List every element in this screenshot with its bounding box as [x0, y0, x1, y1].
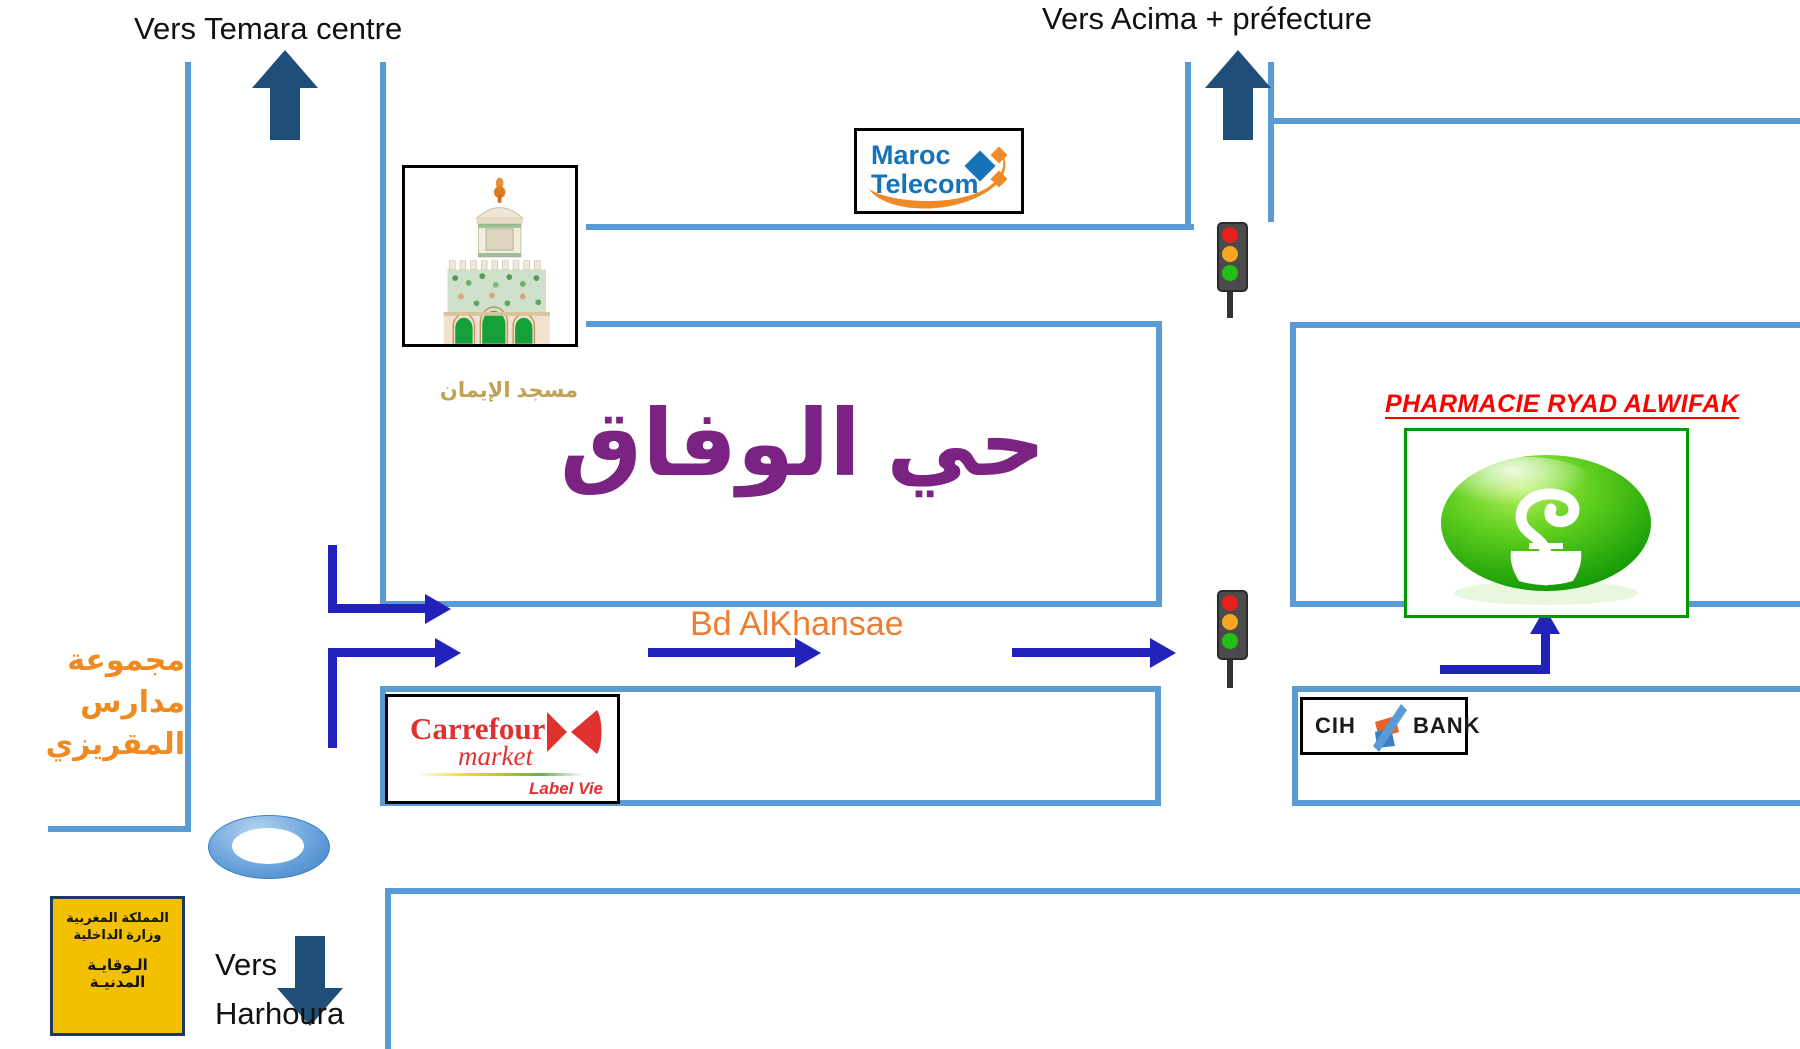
road-right-block-top	[1290, 322, 1800, 328]
nav-arrow-1-head	[425, 594, 451, 624]
mosque-photo-frame	[402, 165, 578, 347]
road-telecom-branch	[586, 224, 1194, 230]
pharmacy-logo-frame	[1404, 428, 1689, 618]
mosque-minaret-illustration	[405, 168, 575, 344]
direction-label-harhoura-line1: Vers	[215, 946, 277, 984]
pharmacy-label: PHARMACIE RYAD ALWIFAK	[1385, 390, 1739, 419]
map-canvas: مسجد الإيمان Maroc Telecom حي الوفاق Bd …	[0, 0, 1800, 1049]
maroc-telecom-logo: Maroc Telecom	[857, 131, 1021, 211]
road-left-outer	[185, 62, 191, 832]
direction-label-temara: Vers Temara centre	[134, 10, 402, 48]
nav-arrow-2-head	[435, 638, 461, 668]
road-right-block-left	[1290, 322, 1296, 607]
pharmacy-caduceus-icon	[1407, 431, 1686, 615]
road-cih-block-left	[1292, 686, 1298, 806]
carrefour-divider	[414, 773, 584, 776]
nav-arrow-1-shaft	[328, 604, 428, 613]
traffic-lamp-amber	[1222, 614, 1238, 630]
street-label-bd-alkhansae: Bd AlKhansae	[690, 605, 904, 644]
roundabout	[208, 815, 328, 877]
traffic-lamp-red	[1222, 595, 1238, 611]
direction-label-harhoura-line2: Harhoura	[215, 995, 344, 1033]
carrefour-chevron-icon	[541, 709, 603, 755]
carrefour-market-logo: Carrefour market Label Vie	[388, 697, 617, 801]
school-label-line2: مدارس	[20, 682, 185, 724]
nav-arrow-1-stem	[328, 545, 337, 613]
roundabout-hole	[232, 828, 304, 864]
road-lower-block-right	[1155, 686, 1161, 806]
maroc-telecom-line2: Telecom	[871, 170, 979, 199]
road-bottom-left-vert	[385, 888, 391, 1049]
traffic-lamp-red	[1222, 227, 1238, 243]
road-cih-block-bottom	[1292, 800, 1800, 806]
road-cih-block-top	[1292, 686, 1800, 692]
cih-wordmark-left: CIH	[1315, 713, 1356, 739]
traffic-lamp-amber	[1222, 246, 1238, 262]
mosque-caption: مسجد الإيمان	[418, 378, 578, 403]
traffic-lamp-green	[1222, 265, 1238, 281]
cih-bank-emblem-icon	[1365, 702, 1413, 754]
nav-arrow-2-shaft	[328, 648, 438, 657]
block-arrow-up-acima	[1205, 50, 1271, 140]
cih-wordmark-right: BANK	[1413, 713, 1481, 739]
nav-arrow-2-stem	[328, 648, 337, 748]
carrefour-label-vie: Label Vie	[529, 779, 603, 799]
school-label: مجموعة مدارس المقريزي	[20, 640, 185, 766]
nav-arrow-3-shaft	[648, 648, 798, 657]
road-lower-block-top	[380, 686, 1160, 692]
traffic-lamp-green	[1222, 633, 1238, 649]
nav-arrow-5-shaft	[1440, 665, 1550, 674]
road-block-right-vert	[1156, 321, 1162, 607]
maroc-telecom-logo-frame: Maroc Telecom	[854, 128, 1024, 214]
road-left-bottom-stub	[48, 826, 191, 832]
cih-bank-logo-frame: CIH BANK	[1300, 697, 1468, 755]
nav-arrow-4-head	[1150, 638, 1176, 668]
civil-protection-line3: الـوقايـة المدنيـة	[59, 957, 176, 991]
road-upper-right-horiz	[1268, 118, 1800, 124]
school-label-line3: المقريزي	[20, 724, 185, 766]
school-label-line1: مجموعة	[20, 640, 185, 682]
civil-protection-line2: وزارة الداخلية	[59, 926, 176, 943]
civil-protection-line1: المملكة المغربية	[59, 909, 176, 926]
road-block-left-vert	[380, 62, 386, 607]
direction-label-acima: Vers Acima + préfecture	[1042, 0, 1372, 38]
block-arrow-up-temara	[252, 50, 318, 140]
road-center-vert-left	[1185, 62, 1191, 224]
maroc-telecom-wordmark: Maroc Telecom	[871, 141, 979, 199]
maroc-telecom-line1: Maroc	[871, 141, 979, 170]
nav-arrow-4-shaft	[1012, 648, 1152, 657]
road-block-top	[586, 321, 1162, 327]
civil-protection-sign: المملكة المغربية وزارة الداخلية الـوقايـ…	[50, 896, 185, 1036]
nav-arrow-5-stem	[1541, 630, 1550, 670]
carrefour-market-logo-frame: Carrefour market Label Vie	[385, 694, 620, 804]
district-title: حي الوفاق	[560, 390, 1046, 497]
road-bottom	[385, 888, 1800, 894]
cih-bank-logo: CIH BANK	[1303, 700, 1465, 752]
carrefour-market-wordmark: market	[458, 741, 533, 772]
